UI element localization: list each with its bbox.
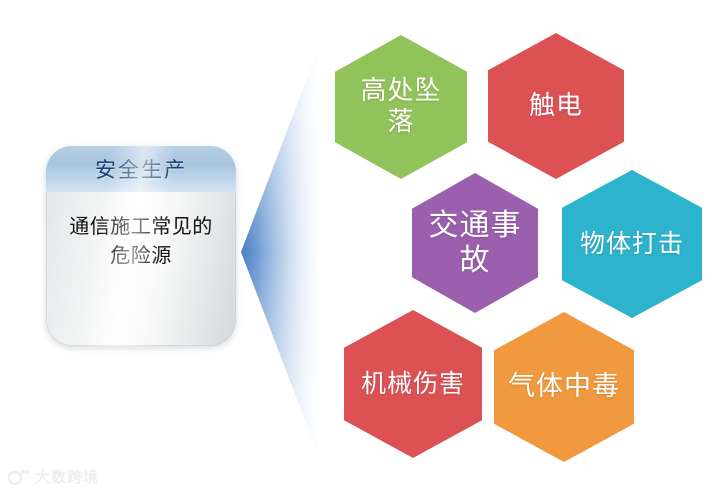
circle-logo-icon — [8, 467, 30, 487]
hexagon-tile-1[interactable]: 触电 — [488, 33, 624, 179]
hexagon-tile-0-label: 高处坠落 — [335, 76, 467, 137]
hexagon-tile-5[interactable]: 气体中毒 — [494, 312, 634, 462]
hexagon-cluster: 高处坠落 触电 交通事故 物体打击 机械伤害 气体中毒 — [0, 0, 726, 493]
hexagon-tile-2[interactable]: 交通事故 — [412, 173, 538, 313]
hexagon-tile-4-label: 机械伤害 — [347, 369, 479, 399]
hexagon-tile-1-label: 触电 — [515, 91, 597, 122]
hexagon-tile-3-label: 物体打击 — [566, 229, 698, 259]
watermark: 大数跨境 — [8, 466, 99, 487]
hexagon-tile-0[interactable]: 高处坠落 — [335, 35, 467, 179]
hexagon-tile-3[interactable]: 物体打击 — [562, 170, 702, 318]
hexagon-tile-2-label: 交通事故 — [412, 208, 538, 279]
slide-canvas: 安全生产 通信施工常见的危险源 — [0, 0, 726, 493]
hexagon-tile-5-label: 气体中毒 — [494, 371, 634, 403]
hexagon-tile-4[interactable]: 机械伤害 — [344, 310, 482, 458]
watermark-text: 大数跨境 — [35, 466, 99, 487]
